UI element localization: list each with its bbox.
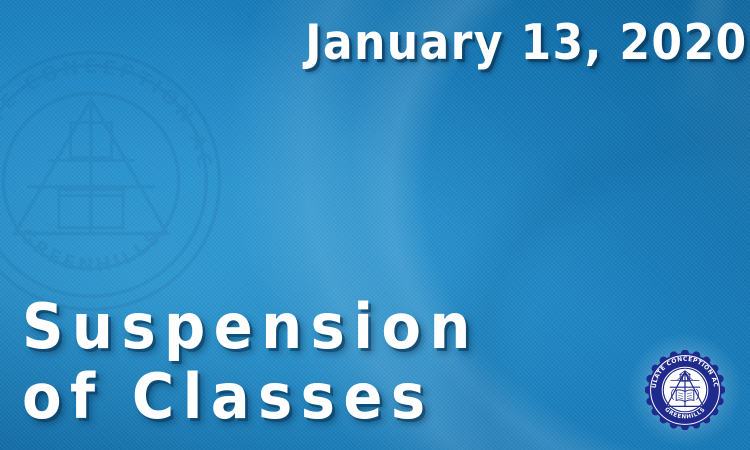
- headline-line-2: of Classes: [22, 362, 479, 432]
- banner-date: January 13, 2020: [306, 14, 748, 72]
- banner-headline: Suspension of Classes: [22, 292, 479, 432]
- headline-line-1: Suspension: [22, 292, 479, 362]
- school-seal-logo-icon: IMMACULATE CONCEPTION ACADEMY GREENHILLS: [645, 350, 725, 430]
- announcement-banner: IMMACULATE CONCEPTION ACADEMY GREENHILLS…: [0, 0, 750, 450]
